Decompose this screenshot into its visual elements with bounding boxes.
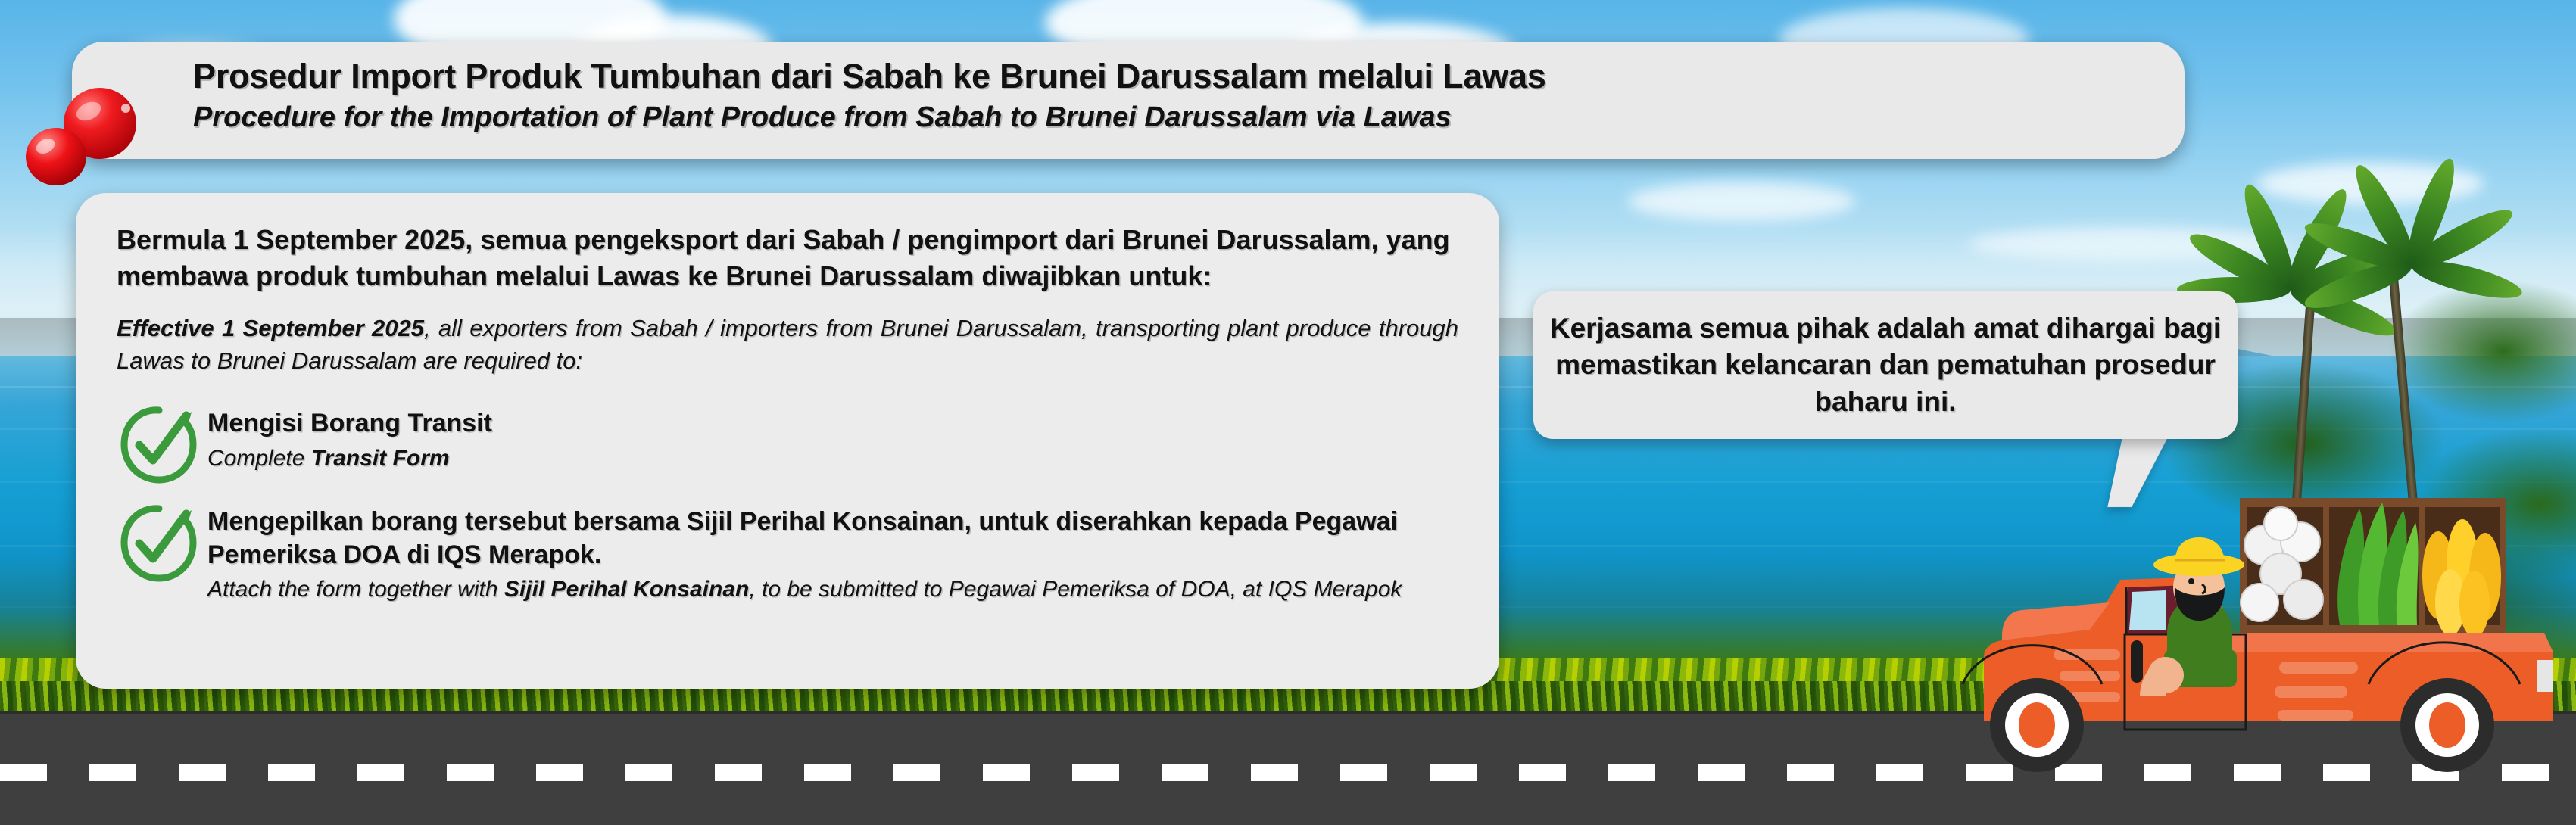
speech-bubble: Kerjasama semua pihak adalah amat diharg… xyxy=(1533,291,2238,439)
page-title: Prosedur Import Produk Tumbuhan dari Sab… xyxy=(193,55,2139,98)
lead-ms-bold: Bermula 1 September 2025, xyxy=(117,224,472,255)
item0-en-pre: Complete xyxy=(207,446,311,471)
lead-paragraph-ms: Bermula 1 September 2025, semua pengeksp… xyxy=(117,222,1458,294)
green-check-circle-icon xyxy=(117,501,200,584)
list-item-title-en: Complete Transit Form xyxy=(207,444,1458,473)
green-check-circle-icon xyxy=(117,403,200,486)
title-card: Prosedur Import Produk Tumbuhan dari Sab… xyxy=(72,42,2185,159)
lead-en-bold: Effective 1 September 2025 xyxy=(117,315,424,341)
info-card: Bermula 1 September 2025, semua pengeksp… xyxy=(76,193,1499,689)
lead-paragraph-en: Effective 1 September 2025, all exporter… xyxy=(117,313,1458,378)
orange-pickup-truck-icon xyxy=(1938,454,2576,780)
list-item-title-ms: Mengepilkan borang tersebut bersama Siji… xyxy=(207,506,1458,571)
cargo-crate xyxy=(2240,498,2506,637)
speech-bubble-text: Kerjasama semua pihak adalah amat diharg… xyxy=(1533,310,2238,419)
list-item: Mengepilkan borang tersebut bersama Siji… xyxy=(117,506,1458,604)
list-item-title-ms: Mengisi Borang Transit xyxy=(207,407,1458,441)
item1-en-pre: Attach the form together with xyxy=(207,577,504,602)
list-item-title-en: Attach the form together with Sijil Peri… xyxy=(207,574,1458,604)
page-subtitle: Procedure for the Importation of Plant P… xyxy=(193,99,2139,136)
item0-en-bold: Transit Form xyxy=(311,446,450,471)
list-item: Mengisi Borang Transit Complete Transit … xyxy=(117,407,1458,486)
red-push-pin-icon xyxy=(15,57,159,189)
infographic-banner: Prosedur Import Produk Tumbuhan dari Sab… xyxy=(0,0,2576,825)
cloud-icon xyxy=(1628,182,1855,221)
requirements-list: Mengisi Borang Transit Complete Transit … xyxy=(117,407,1458,604)
item1-en-bold: Sijil Perihal Konsainan xyxy=(504,577,749,602)
item1-en-post: , to be submitted to Pegawai Pemeriksa o… xyxy=(749,577,1402,602)
